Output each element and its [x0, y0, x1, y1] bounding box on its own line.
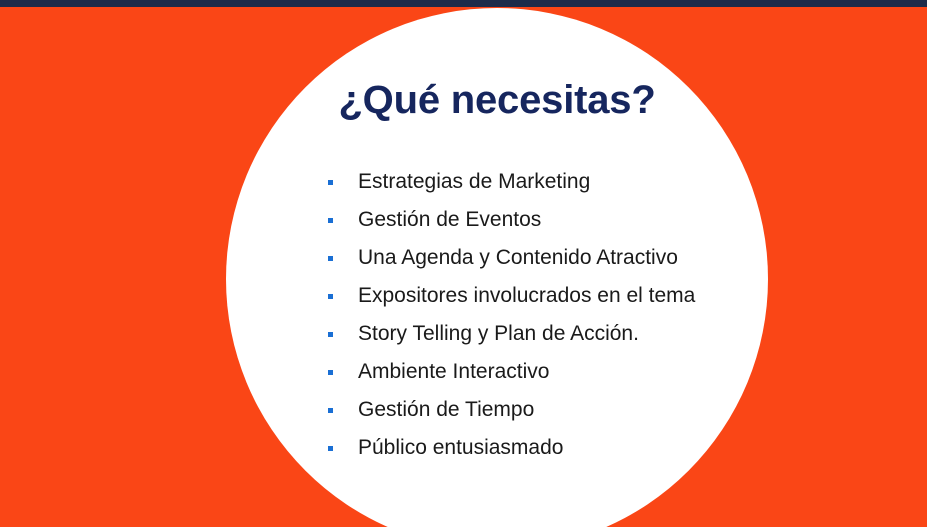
list-item: Ambiente Interactivo: [226, 353, 768, 391]
list-item: Gestión de Eventos: [226, 201, 768, 239]
bullet-point-icon: [328, 408, 333, 413]
slide-canvas: ¿Qué necesitas? Estrategias de Marketing…: [0, 0, 927, 527]
list-item: Público entusiasmado: [226, 429, 768, 467]
list-item: Gestión de Tiempo: [226, 391, 768, 429]
bullet-point-icon: [328, 180, 333, 185]
list-item-label: Expositores involucrados en el tema: [358, 284, 695, 307]
slide-content: ¿Qué necesitas? Estrategias de Marketing…: [226, 8, 768, 527]
bullet-point-icon: [328, 218, 333, 223]
list-item: Una Agenda y Contenido Atractivo: [226, 239, 768, 277]
list-item-label: Gestión de Tiempo: [358, 398, 534, 421]
list-item: Expositores involucrados en el tema: [226, 277, 768, 315]
bullet-point-icon: [328, 446, 333, 451]
list-item-label: Ambiente Interactivo: [358, 360, 549, 383]
bullet-point-icon: [328, 332, 333, 337]
list-item: Story Telling y Plan de Acción.: [226, 315, 768, 353]
bullet-list: Estrategias de Marketing Gestión de Even…: [226, 163, 768, 467]
list-item-label: Gestión de Eventos: [358, 208, 541, 231]
top-accent-bar: [0, 0, 927, 7]
page-title: ¿Qué necesitas?: [226, 78, 768, 123]
list-item-label: Una Agenda y Contenido Atractivo: [358, 246, 678, 269]
list-item-label: Público entusiasmado: [358, 436, 563, 459]
list-item-label: Estrategias de Marketing: [358, 170, 590, 193]
bullet-point-icon: [328, 370, 333, 375]
list-item: Estrategias de Marketing: [226, 163, 768, 201]
list-item-label: Story Telling y Plan de Acción.: [358, 322, 639, 345]
bullet-point-icon: [328, 256, 333, 261]
bullet-point-icon: [328, 294, 333, 299]
